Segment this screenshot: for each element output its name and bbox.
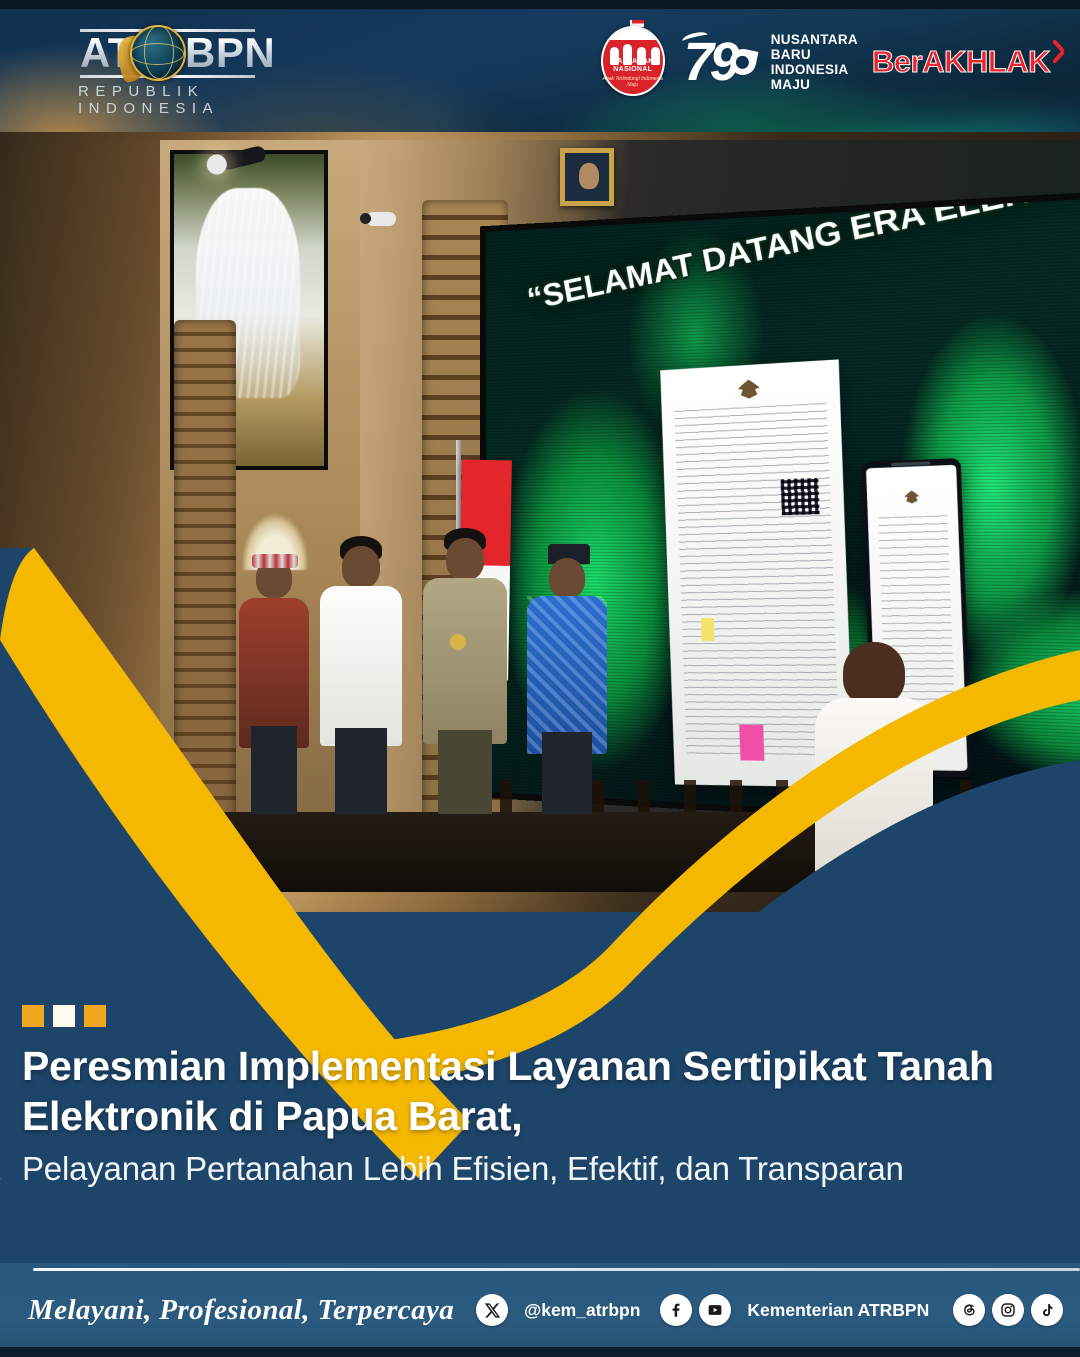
person-head <box>446 538 484 580</box>
president-portrait <box>560 148 614 206</box>
title-block: Peresmian Implementasi Layanan Sertipika… <box>22 1005 1032 1191</box>
event-photo: “SELAMAT DATANG ERA ELEKTRONIK” <box>0 132 1080 912</box>
person-blue-batik <box>526 516 608 814</box>
person-body <box>320 586 402 746</box>
poster-canvas: ATR BPN REPUBLIK INDONESIA HARI ANAK NAS… <box>0 0 1080 1357</box>
hut79-line4: MAJU <box>771 77 810 92</box>
hut-79-mark: 79 <box>682 31 762 93</box>
accent-square-1 <box>22 1005 44 1027</box>
certificate-highlight-yellow <box>701 618 715 641</box>
garuda-emblem-icon <box>738 379 760 399</box>
uniform-emblem-icon <box>450 634 466 650</box>
header-logo-cluster: HARI ANAK NASIONAL Anak Terlindungi Indo… <box>598 14 1062 110</box>
social-group-x: @kem_atrbpn <box>476 1294 640 1326</box>
person-legs <box>335 728 387 814</box>
handle-facebook-youtube: Kementerian ATRBPN <box>747 1300 929 1321</box>
garuda-emblem-icon-small <box>904 490 920 504</box>
han-line2: NASIONAL <box>613 66 652 73</box>
threads-icon[interactable] <box>953 1294 985 1326</box>
page-subtitle: Pelayanan Pertanahan Lebih Efisien, Efek… <box>22 1147 1032 1191</box>
person-head <box>342 546 380 588</box>
hall-floor <box>160 812 1080 892</box>
page-title: Peresmian Implementasi Layanan Sertipika… <box>22 1041 1032 1141</box>
person-head <box>843 642 905 706</box>
youtube-icon[interactable] <box>699 1294 731 1326</box>
header-top-line <box>0 0 1080 9</box>
hut79-line3: INDONESIA <box>771 62 849 77</box>
accent-square-3 <box>84 1005 106 1027</box>
handle-x: @kem_atrbpn <box>524 1300 640 1321</box>
hut-79-number: 79 <box>684 35 736 89</box>
tiktok-icon[interactable] <box>1031 1294 1063 1326</box>
x-twitter-icon[interactable] <box>476 1294 508 1326</box>
headband <box>252 554 298 568</box>
header-banner: ATR BPN REPUBLIK INDONESIA HARI ANAK NAS… <box>0 0 1080 132</box>
footer-tagline: Melayani, Profesional, Terpercaya <box>28 1294 454 1327</box>
person-papuan-headdress <box>236 514 312 814</box>
person-viewing-screen <box>814 642 934 892</box>
person-body <box>527 596 607 754</box>
logo-subtitle: REPUBLIK INDONESIA <box>78 83 282 117</box>
person-white-shirt <box>318 508 404 814</box>
cctv-camera-icon <box>366 212 396 226</box>
han-tagline: Anak Terlindungi Indonesia Maju <box>598 76 668 88</box>
hut79-line1: NUSANTARA <box>771 32 858 47</box>
instagram-icon[interactable] <box>992 1294 1024 1326</box>
social-group-threads-instagram-tiktok: @kementerian.atrbpn <box>953 1294 1080 1326</box>
han-title: HARI ANAK NASIONAL <box>598 58 668 74</box>
person-khaki-uniform <box>422 504 508 814</box>
footer-divider <box>33 1268 1080 1271</box>
hut79-line2: BARU <box>771 47 811 62</box>
hut-79-logo: 79 NUSANTARA BARU INDONESIA MAJU <box>682 31 858 93</box>
photo-inner-frame: “SELAMAT DATANG ERA ELEKTRONIK” <box>160 140 1080 892</box>
logo-text-bpn: BPN <box>185 29 275 76</box>
berakhlak-logo: BerAKHLAK <box>872 45 1062 79</box>
facebook-icon[interactable] <box>660 1294 692 1326</box>
social-group-facebook-youtube: Kementerian ATRBPN <box>660 1294 929 1326</box>
qr-code-icon <box>781 478 820 515</box>
accent-square-2 <box>53 1005 75 1027</box>
person-legs <box>251 726 297 814</box>
accent-squares <box>22 1005 1032 1027</box>
person-legs <box>438 730 492 814</box>
han-line1: HARI ANAK <box>612 58 654 65</box>
certificate-highlight-pink <box>739 725 764 761</box>
person-body <box>815 698 933 888</box>
person-body <box>423 578 507 744</box>
footer-bar: Melayani, Profesional, Terpercaya @kem_a… <box>0 1263 1080 1357</box>
hut-79-words: NUSANTARA BARU INDONESIA MAJU <box>771 32 858 92</box>
papuan-carving-left <box>174 320 236 880</box>
hari-anak-nasional-badge: HARI ANAK NASIONAL Anak Terlindungi Indo… <box>598 20 668 104</box>
person-head <box>549 558 585 598</box>
chevron-right-icon <box>1049 39 1066 67</box>
atrbpn-logo: ATR BPN REPUBLIK INDONESIA <box>22 23 282 109</box>
person-legs <box>542 732 592 814</box>
globe-icon <box>130 25 186 81</box>
berakhlak-label: BerAKHLAK <box>872 45 1050 79</box>
footer-bottom-strip <box>0 1347 1080 1357</box>
